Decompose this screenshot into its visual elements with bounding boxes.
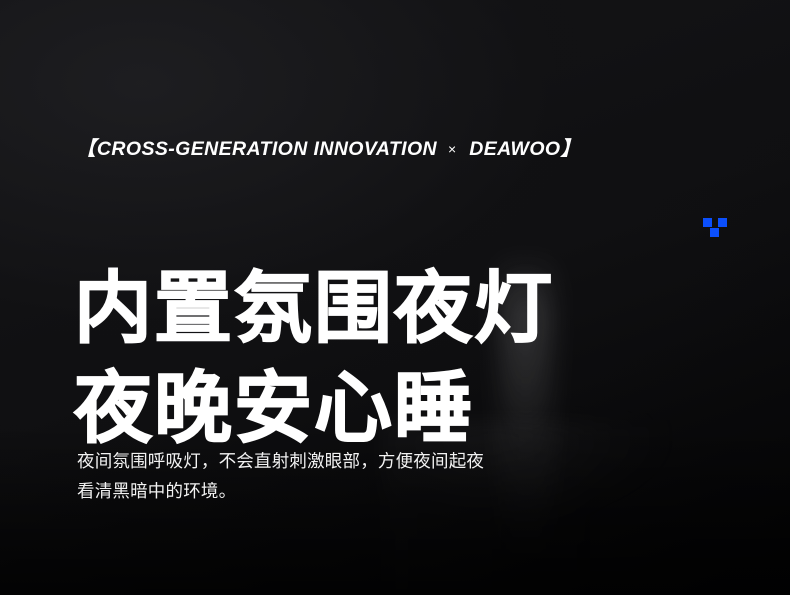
bracket-close: 】 [560,138,580,160]
body-description: 夜间氛围呼吸灯，不会直射刺激眼部，方便夜间起夜 看清黑暗中的环境。 [77,446,577,506]
product-feature-banner: 【CROSS-GENERATION INNOVATION×DEAWOO】 内置氛… [0,0,790,595]
square-top-left-icon [703,218,712,227]
headline-line-1: 内置氛围夜灯 [74,258,554,358]
kicker-line: 【CROSS-GENERATION INNOVATION×DEAWOO】 [76,140,581,160]
body-line-1: 夜间氛围呼吸灯，不会直射刺激眼部，方便夜间起夜 [77,446,577,476]
body-line-2: 看清黑暗中的环境。 [77,476,577,506]
kicker-text-right: DEAWOO [469,138,560,160]
headline-line-2: 夜晚安心睡 [74,358,554,458]
three-squares-brand-icon [703,218,727,238]
page-title: 内置氛围夜灯 夜晚安心睡 [74,258,554,458]
square-bottom-icon [710,228,719,237]
banner-content: 【CROSS-GENERATION INNOVATION×DEAWOO】 内置氛… [0,0,790,595]
square-top-right-icon [718,218,727,227]
multiply-icon: × [448,141,456,157]
bracket-open: 【 [76,138,96,160]
kicker-text-left: CROSS-GENERATION INNOVATION [97,138,437,160]
